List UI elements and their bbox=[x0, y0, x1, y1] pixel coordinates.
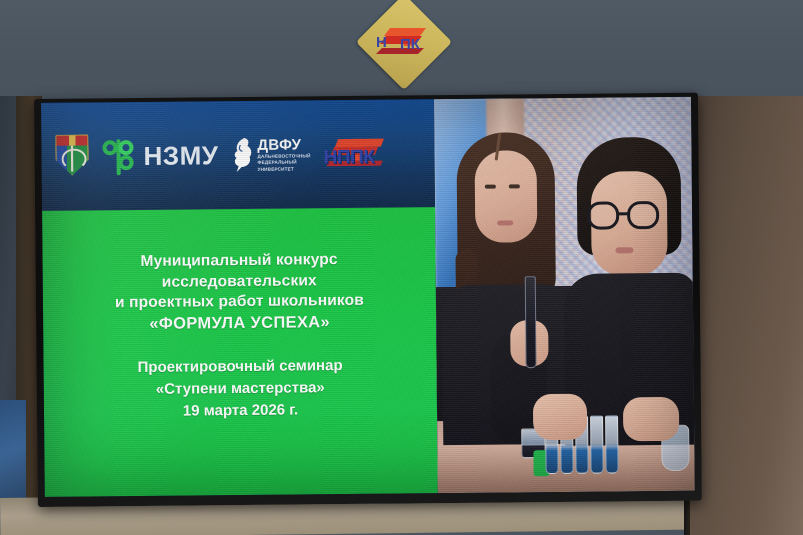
wall-right-panel bbox=[690, 96, 803, 535]
sprout-icon bbox=[101, 137, 136, 175]
coat-of-arms-icon bbox=[55, 134, 88, 178]
wall-display[interactable]: НЗМУ ДВФУ ДАЛЬНЕВОСТОЧНЫЙ ФЕДЕРАЛЬНЫЙ УН… bbox=[34, 93, 702, 507]
slide-subtitle: Проектировочный семинар «Ступени мастерс… bbox=[51, 354, 429, 423]
dvfu-logo: ДВФУ ДАЛЬНЕВОСТОЧНЫЙ ФЕДЕРАЛЬНЫЙ УНИВЕРС… bbox=[231, 135, 311, 174]
slide-title: Муниципальный конкурс исследовательских … bbox=[50, 249, 428, 336]
slide-left-pane: НЗМУ ДВФУ ДАЛЬНЕВОСТОЧНЫЙ ФЕДЕРАЛЬНЫЙ УН… bbox=[41, 99, 438, 497]
nppk-logo: НППК bbox=[323, 133, 384, 176]
dvfu-fullname-line2: ФЕДЕРАЛЬНЫЙ bbox=[258, 160, 311, 166]
display-screen: НЗМУ ДВФУ ДАЛЬНЕВОСТОЧНЫЙ ФЕДЕРАЛЬНЫЙ УН… bbox=[41, 97, 695, 497]
slide-subtitle-line-3: 19 марта 2026 г. bbox=[52, 398, 429, 423]
wall-left-blue-object bbox=[0, 400, 26, 512]
dvfu-fullname-line1: ДАЛЬНЕВОСТОЧНЫЙ bbox=[257, 153, 310, 159]
nppk-emblem-mark: Н ПК bbox=[374, 24, 434, 58]
nppk-label: НППК bbox=[324, 148, 375, 167]
students-chemistry-photo bbox=[434, 97, 695, 493]
nzmu-logo: НЗМУ bbox=[101, 136, 218, 175]
svg-text:Н: Н bbox=[376, 34, 387, 51]
dvfu-fullname-line3: УНИВЕРСИТЕТ bbox=[258, 166, 311, 172]
photo-of-room-with-display: Н ПК bbox=[0, 0, 803, 535]
dvfu-leopard-icon bbox=[231, 136, 253, 174]
nppk-diamond-emblem: Н ПК bbox=[356, 2, 452, 92]
svg-text:ПК: ПК bbox=[400, 36, 421, 53]
slide-logo-row: НЗМУ ДВФУ ДАЛЬНЕВОСТОЧНЫЙ ФЕДЕРАЛЬНЫЙ УН… bbox=[55, 117, 428, 193]
nzmu-label: НЗМУ bbox=[143, 142, 218, 169]
test-tube bbox=[525, 276, 537, 368]
dvfu-abbr: ДВФУ bbox=[257, 137, 310, 153]
eyeglasses-icon bbox=[587, 201, 679, 232]
slide-title-line-4: «ФОРМУЛА УСПЕХА» bbox=[51, 311, 428, 336]
